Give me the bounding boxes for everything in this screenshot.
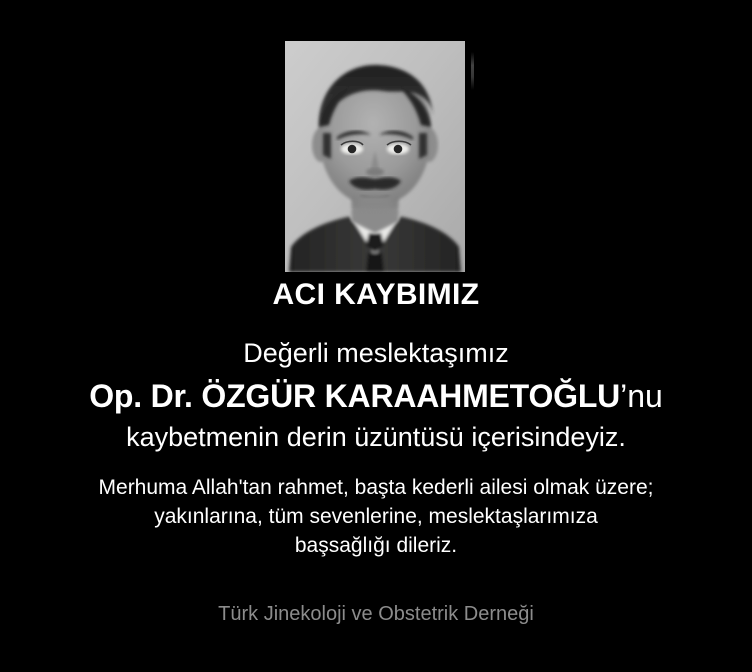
condolence-line: yakınlarına, tüm sevenlerine, meslektaşl… [0,502,752,531]
memorial-notice-card: ACI KAYBIMIZ Değerli meslektaşımız Op. D… [0,0,752,672]
condolence-line: başsağlığı dileriz. [0,531,752,560]
announcement-intro: Değerli meslektaşımız [0,337,752,369]
portrait-photo [285,41,465,272]
portrait-illustration [285,41,465,272]
condolence-message: Merhuma Allah'tan rahmet, başta kederli … [0,473,752,560]
condolence-line: Merhuma Allah'tan rahmet, başta kederli … [0,473,752,502]
announcement-closing: kaybetmenin derin üzüntüsü içerisindeyiz… [0,421,752,453]
deceased-name-suffix: ’nu [620,378,663,414]
deceased-name: Op. Dr. ÖZGÜR KARAAHMETOĞLU [89,378,620,414]
photo-edge-artifact [471,52,474,90]
organization-name: Türk Jinekoloji ve Obstetrik Derneği [0,602,752,626]
page-title: ACI KAYBIMIZ [0,278,752,312]
deceased-name-line: Op. Dr. ÖZGÜR KARAAHMETOĞLU’nu [0,377,752,415]
